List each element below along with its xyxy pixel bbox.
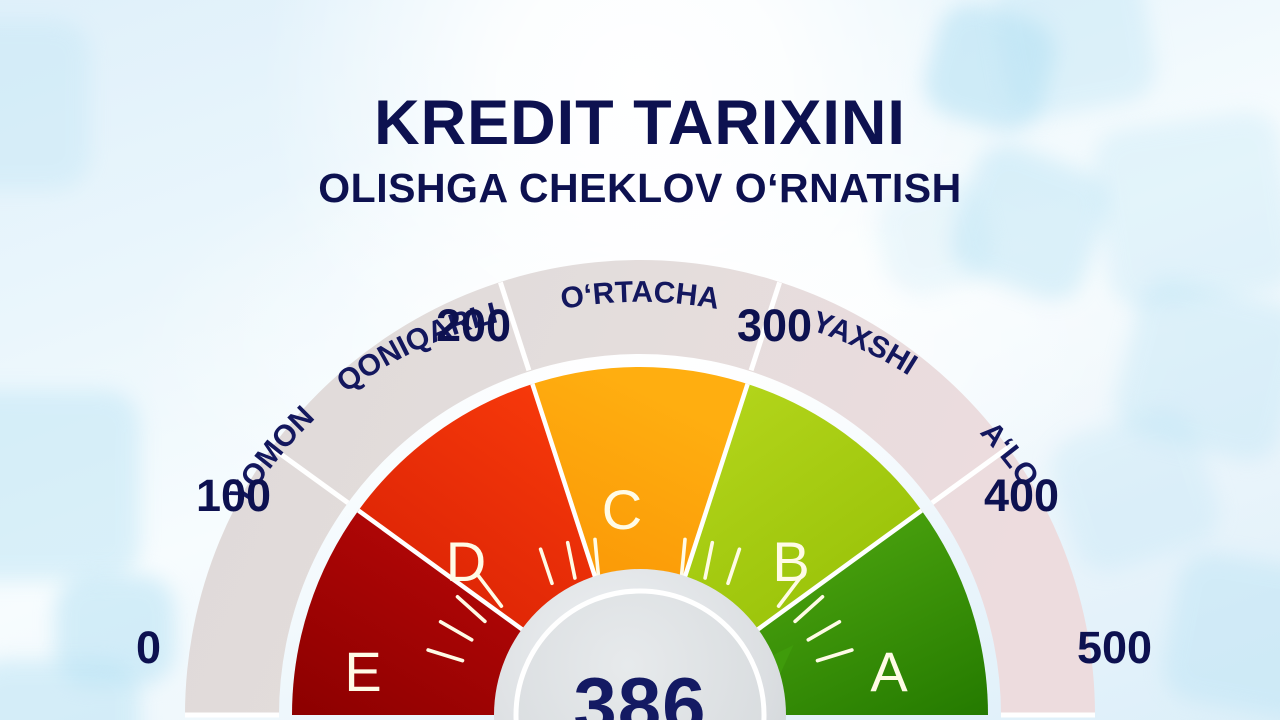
tick-label-400: 400 <box>984 473 1059 518</box>
tick-label-100: 100 <box>196 473 271 518</box>
tick-label-300: 300 <box>737 303 812 348</box>
page-title: KREDIT TARIXINI OLISHGA CHEKLOV O‘RNATIS… <box>0 92 1280 209</box>
score-value: 386 <box>0 666 1280 720</box>
infographic-canvas: KREDIT TARIXINI OLISHGA CHEKLOV O‘RNATIS… <box>0 0 1280 720</box>
grade-letter-D: D <box>446 530 486 593</box>
grade-letter-C: C <box>602 478 642 541</box>
title-line-2: OLISHGA CHEKLOV O‘RNATISH <box>0 168 1280 209</box>
grade-letter-B: B <box>772 530 809 593</box>
tick-label-0: 0 <box>136 625 161 670</box>
tick-label-200: 200 <box>436 303 511 348</box>
tick-label-500: 500 <box>1077 625 1152 670</box>
title-line-1: KREDIT TARIXINI <box>0 92 1280 155</box>
